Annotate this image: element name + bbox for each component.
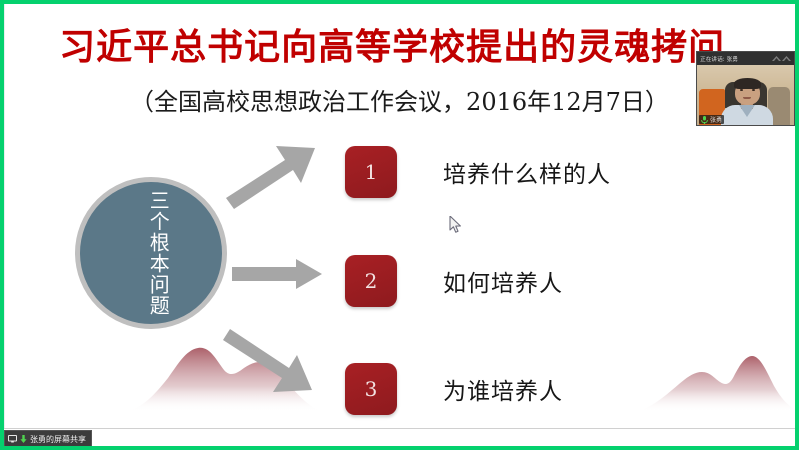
video-person-hair — [734, 78, 761, 89]
share-arrow-icon — [20, 435, 27, 443]
monitor-icon — [8, 435, 17, 443]
taskbar-item-screen-share[interactable]: 张勇的屏幕共享 — [4, 430, 92, 448]
slide-subtitle: （全国高校思想政治工作会议，2016年12月7日） — [4, 82, 795, 117]
central-circle: 三个根本问题 — [75, 177, 227, 329]
mountain-decoration-left — [122, 326, 322, 412]
arrow-to-item-3 — [223, 329, 312, 392]
mountain-decoration-right — [634, 342, 795, 412]
list-item: 3 为谁培养人 — [345, 363, 563, 415]
chevron-collapse-icon[interactable] — [772, 55, 781, 62]
list-item: 1 培养什么样的人 — [345, 146, 611, 198]
item-number-badge: 3 — [345, 363, 397, 415]
taskbar: 张勇的屏幕共享 — [0, 428, 799, 450]
item-label: 为谁培养人 — [443, 372, 563, 406]
video-panel-header[interactable]: 正在讲话: 张勇 — [697, 52, 794, 65]
video-panel-controls[interactable] — [772, 55, 791, 62]
item-number-badge: 1 — [345, 146, 397, 198]
screen-share-window: 习近平总书记向高等学校提出的灵魂拷问. （全国高校思想政治工作会议，2016年1… — [0, 0, 799, 450]
taskbar-top-divider — [0, 428, 799, 429]
microphone-icon — [701, 116, 708, 124]
video-thumbnail-panel[interactable]: 正在讲话: 张勇 — [696, 51, 795, 126]
item-label: 如何培养人 — [443, 264, 563, 298]
list-item: 2 如何培养人 — [345, 255, 563, 307]
video-person-mouth — [743, 97, 751, 99]
slide-title: 习近平总书记向高等学校提出的灵魂拷问. — [4, 18, 795, 70]
video-person-eye-left — [740, 89, 743, 91]
item-label: 培养什么样的人 — [443, 155, 611, 189]
presentation-slide: 习近平总书记向高等学校提出的灵魂拷问. （全国高校思想政治工作会议，2016年1… — [4, 4, 795, 428]
participant-name: 张勇 — [710, 115, 722, 124]
arrow-to-item-1 — [226, 146, 315, 209]
central-circle-label: 三个根本问题 — [147, 190, 169, 316]
taskbar-item-label: 张勇的屏幕共享 — [30, 434, 86, 445]
video-feed[interactable]: 张勇 — [697, 65, 794, 126]
active-speaker-label: 正在讲话: 张勇 — [700, 54, 738, 63]
arrow-to-item-2 — [232, 259, 322, 289]
video-person-eye-right — [752, 89, 755, 91]
item-number-badge: 2 — [345, 255, 397, 307]
video-name-badge: 张勇 — [699, 115, 724, 124]
chevron-collapse-icon-2[interactable] — [782, 55, 791, 62]
